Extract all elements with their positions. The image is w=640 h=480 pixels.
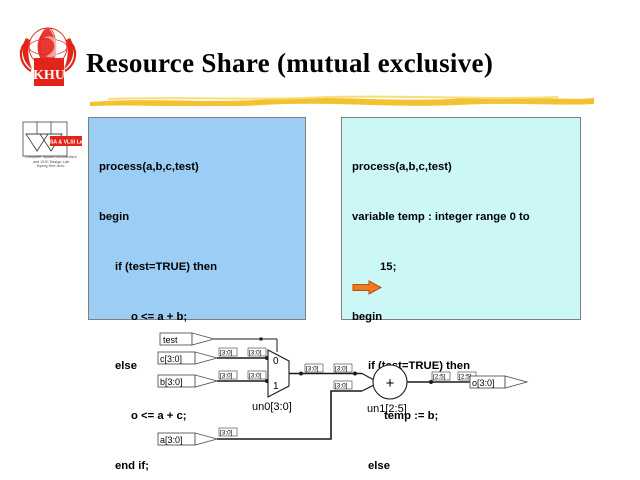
svg-text:[3:0]: [3:0] xyxy=(249,373,262,380)
input-pin-c: c[3:0] xyxy=(158,352,217,364)
output-pin-o: o[3:0] xyxy=(470,376,527,388)
vhdl-code-before-block: process(a,b,c,test) begin if (test=TRUE)… xyxy=(88,117,306,320)
khu-logo-text: KHU xyxy=(33,68,65,83)
input-pin-test: test xyxy=(160,333,214,345)
svg-text:[3:0]: [3:0] xyxy=(335,366,348,373)
title-underline-brushstroke xyxy=(88,95,596,106)
svg-text:[2:5]: [2:5] xyxy=(433,374,446,381)
slide-title: Resource Share (mutual exclusive) xyxy=(86,48,493,79)
bus-label: [3:0] xyxy=(334,381,352,390)
input-label-c: c[3:0] xyxy=(160,354,182,364)
mux-input-label-0: 0 xyxy=(273,356,279,367)
input-label-a: a[3:0] xyxy=(160,435,183,445)
bus-label: [3:0] xyxy=(248,348,266,357)
code-line: 15; xyxy=(352,259,574,276)
svg-text:[3:0]: [3:0] xyxy=(335,383,348,390)
lab-badge-text: CSA & VLSI Lab xyxy=(46,140,86,146)
bus-label: [3:0] xyxy=(219,348,237,357)
input-label-b: b[3:0] xyxy=(160,377,183,387)
bus-label: [3:0] xyxy=(305,364,323,373)
svg-text:[3:0]: [3:0] xyxy=(306,366,319,373)
svg-text:[3:0]: [3:0] xyxy=(220,350,233,357)
input-pin-b: b[3:0] xyxy=(158,375,217,387)
bus-label: [3:0] xyxy=(334,364,352,373)
khu-university-logo: KHU xyxy=(14,22,86,90)
bus-label: [3:0] xyxy=(219,428,237,437)
bus-label: [2:5] xyxy=(432,372,450,381)
mux-input-label-1: 1 xyxy=(273,381,279,392)
input-label-test: test xyxy=(163,335,178,345)
highlight-arrow-icon xyxy=(352,280,382,295)
bus-label: [3:0] xyxy=(248,371,266,380)
slide-canvas: KHU Resource Share (mutual exclusive) CS… xyxy=(0,0,640,480)
svg-text:[3:0]: [3:0] xyxy=(220,430,233,437)
code-line: variable temp : integer range 0 to xyxy=(352,209,574,226)
bus-label: [3:0] xyxy=(219,371,237,380)
svg-text:[3:0]: [3:0] xyxy=(249,350,262,357)
code-line: process(a,b,c,test) xyxy=(352,159,574,176)
synthesized-circuit-diagram: test c[3:0] [3:0] [3:0] xyxy=(0,322,640,480)
lab-caption-line-3: Kyung Hee Univ. xyxy=(12,164,90,169)
svg-text:[3:0]: [3:0] xyxy=(220,373,233,380)
adder-plus-symbol: + xyxy=(386,375,395,392)
code-line: if (test=TRUE) then xyxy=(99,259,299,276)
mux-name-label: un0[3:0] xyxy=(252,401,292,413)
adder-name-label: un1[2:5] xyxy=(367,403,407,415)
adder-un1: + un1[2:5] xyxy=(367,365,407,415)
input-pin-a: a[3:0] xyxy=(158,433,217,445)
output-label-o: o[3:0] xyxy=(472,378,495,388)
lab-logo-caption: Computer System Architecture and VLSI De… xyxy=(12,155,90,169)
code-line: begin xyxy=(99,209,299,226)
code-line: process(a,b,c,test) xyxy=(99,159,299,176)
khu-emblem-graphic: KHU xyxy=(21,28,75,86)
